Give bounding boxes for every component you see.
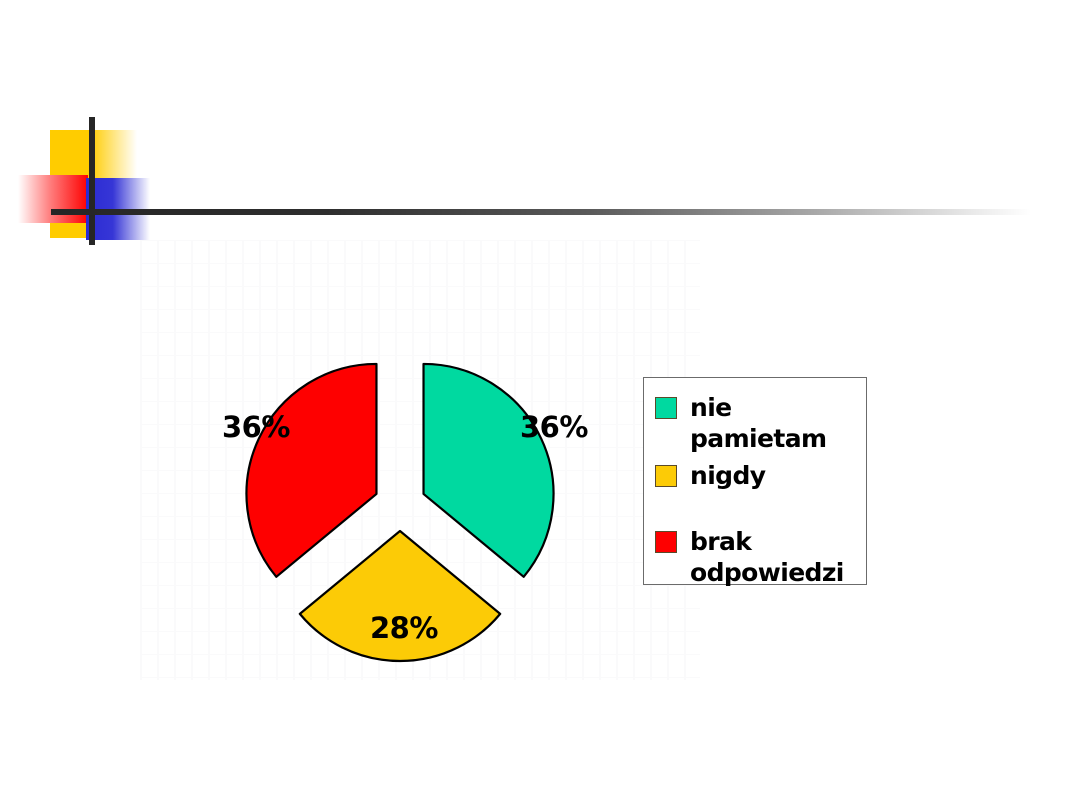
legend-swatch-red [655, 531, 677, 553]
pie-label-brak-odpowiedzi: 36% [222, 410, 290, 444]
pie-slice-brak-odpowiedzi[interactable] [246, 364, 376, 577]
legend-label-brak-odpowiedzi: brak odpowiedzi [690, 526, 850, 588]
legend-swatch-yellow [655, 465, 677, 487]
legend-swatch-teal [655, 397, 677, 419]
legend-item-nigdy[interactable]: nigdy [655, 460, 765, 491]
chart-legend: nie pamietam nigdy brak odpowiedzi [643, 377, 867, 585]
legend-label-nie-pamietam: nie pamietam [690, 392, 866, 454]
logo-red-rect [18, 175, 88, 223]
logo-vertical-bar [89, 117, 95, 245]
legend-item-nie-pamietam[interactable]: nie pamietam [655, 392, 866, 454]
pie-label-nigdy: 28% [370, 611, 438, 645]
pie-label-nie-pamietam: 36% [520, 410, 588, 444]
legend-label-nigdy: nigdy [690, 460, 765, 491]
legend-item-brak-odpowiedzi[interactable]: brak odpowiedzi [655, 526, 850, 588]
logo-horizontal-rule [51, 209, 1031, 215]
masthead-logo [0, 0, 1080, 300]
slide-canvas: 36% 36% 28% nie pamietam nigdy brak odpo… [0, 0, 1080, 810]
pie-slice-nie-pamietam[interactable] [424, 364, 554, 577]
